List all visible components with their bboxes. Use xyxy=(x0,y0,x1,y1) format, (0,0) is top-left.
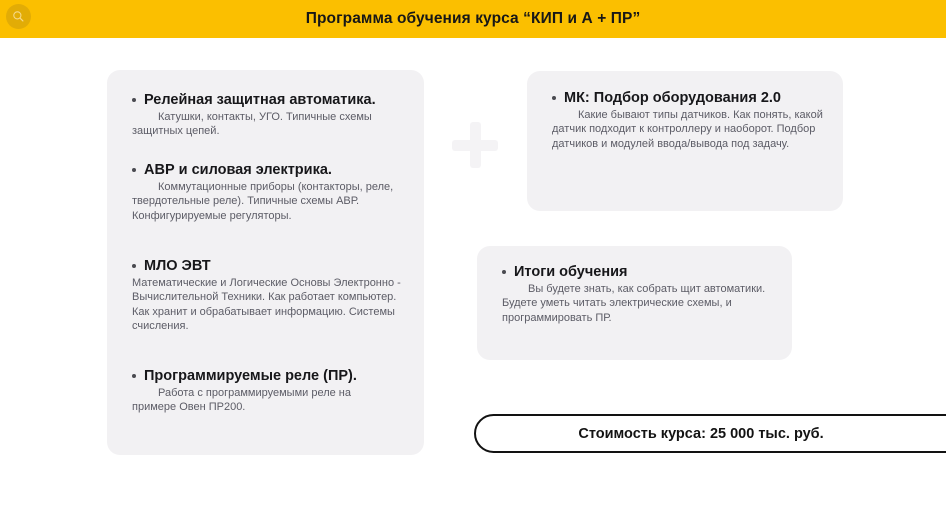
module-block-mlo-evt: МЛО ЭВТ Математические и Логические Осно… xyxy=(132,256,407,334)
search-icon[interactable] xyxy=(6,4,31,29)
module-title-text: МК: Подбор оборудования 2.0 xyxy=(564,90,781,106)
module-block-mk: МК: Подбор оборудования 2.0 Какие бывают… xyxy=(552,88,827,151)
module-block-avr: АВР и силовая электрика. Коммутационные … xyxy=(132,160,397,223)
module-description: Математические и Логические Основы Элект… xyxy=(132,276,407,334)
bullet-icon xyxy=(132,374,136,378)
module-title: Программируемые реле (ПР). xyxy=(132,366,397,386)
card-course-modules: Релейная защитная автоматика. Катушки, к… xyxy=(107,70,424,455)
module-block-relay: Релейная защитная автоматика. Катушки, к… xyxy=(132,90,397,139)
bullet-icon xyxy=(132,264,136,268)
module-title: Релейная защитная автоматика. xyxy=(132,90,397,110)
price-label: Стоимость курса: 25 000 тыс. руб. xyxy=(476,416,926,451)
plus-icon xyxy=(452,122,498,168)
module-title: МК: Подбор оборудования 2.0 xyxy=(552,88,827,108)
module-description: Коммутационные приборы (контакторы, реле… xyxy=(132,180,397,223)
slide-root: Программа обучения курса “КИП и А + ПР” … xyxy=(0,0,946,517)
module-description: Катушки, контакты, УГО. Типичные схемы з… xyxy=(132,110,397,139)
card-learning-outcomes: Итоги обучения Вы будете знать, как собр… xyxy=(477,246,792,360)
bullet-icon xyxy=(132,98,136,102)
module-block-programmable-relays: Программируемые реле (ПР). Работа с прог… xyxy=(132,366,397,415)
module-title-text: МЛО ЭВТ xyxy=(144,258,211,274)
module-title-text: Программируемые реле (ПР). xyxy=(144,368,357,384)
module-title-text: Релейная защитная автоматика. xyxy=(144,92,376,108)
header-bar: Программа обучения курса “КИП и А + ПР” xyxy=(0,0,946,38)
page-title: Программа обучения курса “КИП и А + ПР” xyxy=(306,10,641,28)
module-title: АВР и силовая электрика. xyxy=(132,160,397,180)
module-title: МЛО ЭВТ xyxy=(132,256,407,276)
module-description: Вы будете знать, как собрать щит автомат… xyxy=(502,282,767,325)
bullet-icon xyxy=(552,96,556,100)
module-description: Какие бывают типы датчиков. Как понять, … xyxy=(552,108,827,151)
plus-bar-vertical xyxy=(470,122,481,168)
module-title-text: Итоги обучения xyxy=(514,264,627,280)
module-title-text: АВР и силовая электрика. xyxy=(144,162,332,178)
module-block-outcomes: Итоги обучения Вы будете знать, как собр… xyxy=(502,262,767,325)
card-equipment-selection: МК: Подбор оборудования 2.0 Какие бывают… xyxy=(527,71,843,211)
price-banner: Стоимость курса: 25 000 тыс. руб. xyxy=(474,414,946,453)
module-title: Итоги обучения xyxy=(502,262,767,282)
bullet-icon xyxy=(132,168,136,172)
bullet-icon xyxy=(502,270,506,274)
module-description: Работа с программируемыми реле на пример… xyxy=(132,386,397,415)
